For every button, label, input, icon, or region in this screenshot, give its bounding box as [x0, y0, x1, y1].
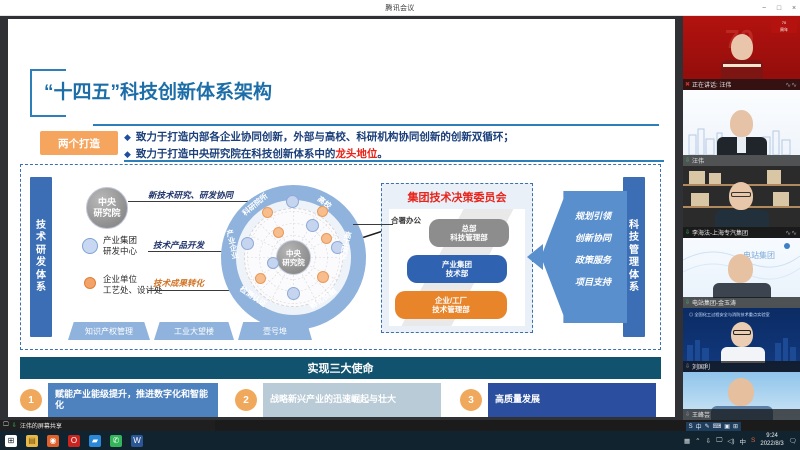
title-divider [93, 124, 659, 126]
ring-node-blue [241, 237, 254, 250]
flow-label-result-transfer: 技术成果转化 [153, 277, 204, 289]
decision-committee-title: 集团技术决策委员会 [381, 189, 533, 205]
book-item [709, 173, 721, 184]
page-title: “十四五”科技创新体系架构 [44, 77, 272, 104]
ime-icon[interactable]: 中 [740, 436, 747, 446]
mission-item-2: 2 战略新兴产业的迅速崛起与壮大 [235, 383, 441, 417]
connector-line-joint-office [353, 224, 393, 225]
video-name-bar-3: ⇩ 李海法-上海专汽集团 ∿∿ [683, 227, 800, 238]
mission-number-3: 3 [460, 389, 482, 411]
minimize-button[interactable]: − [760, 5, 768, 12]
legend-industry-label: 产业集团 研发中心 [103, 235, 137, 257]
video-name-bar-4: ⇩ 电站集团-金玉涛 [683, 297, 800, 308]
video-tile-3[interactable]: ⇩ 李海法-上海专汽集团 ∿∿ [683, 166, 800, 238]
windows-start-icon[interactable]: ⊞ [5, 435, 17, 447]
maximize-button[interactable]: □ [775, 5, 783, 12]
volume-icon[interactable]: ◁) [727, 437, 734, 445]
ring-network-diagram: 中央研究院 科研院所 高校 高工院学 孵化投融 [213, 179, 373, 337]
tencent-meeting-window: 腾讯会议 − □ × “十四五”科技创新体系架构 两个打造 ◆ 致力于打造内部各… [0, 0, 800, 450]
microphone-icon: ⇩ [12, 422, 17, 429]
window-controls: − □ × [760, 0, 798, 16]
meeting-stage: “十四五”科技创新体系架构 两个打造 ◆ 致力于打造内部各企业协同创新，外部与高… [0, 16, 683, 420]
arrow-text-group: 规划引领 创新协同 政策服务 项目支持 [564, 205, 622, 293]
microphone-muted-icon: ✖ [685, 81, 690, 88]
file-explorer-icon[interactable]: ▤ [26, 435, 38, 447]
arrow-item-1: 规划引领 [564, 205, 622, 227]
tab-pier-one[interactable]: 壹号埠 [238, 322, 312, 340]
ime-sogou-icon[interactable]: S [689, 424, 693, 430]
mission-item-3: 3 高质量发展 [460, 383, 656, 417]
ring-node-orange [317, 271, 329, 283]
ring-node-orange [273, 227, 284, 238]
ring-hub-central-institute: 中央研究院 [276, 240, 311, 275]
participant-name-5: 刘国利 [692, 362, 710, 371]
ime-more-icon[interactable]: ⊞ [733, 423, 738, 430]
ring-node-blue [267, 257, 279, 269]
speaking-waveform-icon: ∿∿ [785, 229, 797, 237]
bullet-list: ◆ 致力于打造内部各企业协同创新，外部与高校、科研机构协同创新的创新双循环； ◆… [124, 129, 664, 163]
avatar-head [728, 254, 753, 283]
microphone-icon: ⇩ [685, 363, 690, 370]
video-name-bar-6: ⇩ 王峰芸 [683, 409, 800, 420]
participant-name-3: 李海法-上海专汽集团 [692, 228, 748, 237]
window-titlebar: 腾讯会议 − □ × [0, 0, 800, 16]
bullet-highlight: 龙头地位 [335, 148, 377, 160]
notification-icon[interactable]: 🗨 [789, 437, 797, 445]
screen-icon: 🖵 [3, 422, 9, 429]
org-logo-icon: 70周年 [771, 19, 797, 33]
mission-number-2: 2 [235, 389, 257, 411]
flow-label-product-dev: 技术产品开发 [153, 239, 204, 251]
shared-slide: “十四五”科技创新体系架构 两个打造 ◆ 致力于打造内部各企业协同创新，外部与高… [8, 19, 675, 417]
avatar-body [721, 60, 763, 80]
mission-list: 1 赋能产业能级提升，推进数字化和智能化 2 战略新兴产业的迅速崛起与壮大 3 … [20, 383, 661, 417]
ring-node-orange [321, 233, 332, 244]
ime-chinese-mode[interactable]: 中 [696, 422, 702, 431]
video-name-bar-2: ⇩ 汪伟 [683, 155, 800, 166]
system-tray: S 中 ✎ ⌨ ▣ ⊞ ▦ ⌃ ⇩ 🖵 ◁) 中 S 9:24 2022/8/3… [684, 431, 797, 450]
microphone-icon[interactable]: ⇩ [706, 437, 711, 445]
mission-bar-title: 实现三大使命 [20, 357, 661, 379]
monitor-icon[interactable]: 🖵 [716, 437, 722, 445]
legend-enterprise-dot [84, 277, 96, 289]
pill-enterprise-factory: 企业/工厂技术管理部 [395, 291, 507, 319]
diamond-icon: ◆ [124, 129, 131, 146]
avatar-collar [723, 64, 761, 67]
windows-taskbar[interactable]: ⊞ ▤ ◉ O ▰ ✆ W S 中 ✎ ⌨ ▣ ⊞ ▦ ⌃ ⇩ 🖵 ◁) 中 S [0, 431, 800, 450]
taskbar-icon-group: ⊞ ▤ ◉ O ▰ ✆ W [0, 435, 143, 447]
book-item [691, 193, 709, 206]
video-name-bar-5: ⇩ 刘国利 [683, 361, 800, 372]
ime-toolbar[interactable]: S 中 ✎ ⌨ ▣ ⊞ [686, 422, 741, 431]
avatar-head [730, 110, 753, 137]
ime-keyboard-icon[interactable]: ⌨ [713, 423, 722, 430]
wechat-icon[interactable]: ✆ [110, 435, 122, 447]
microphone-icon: ⇩ [685, 229, 690, 236]
word-icon[interactable]: W [131, 435, 143, 447]
arrow-item-4: 项目支持 [564, 271, 622, 293]
ime-panel-icon[interactable]: ▣ [724, 423, 730, 430]
virtual-background-banner: ◎ 全国化工过程安全与消防技术重点实验室 [689, 312, 770, 318]
book-item [689, 171, 705, 184]
sogou-icon[interactable]: S [751, 437, 755, 444]
legend-industry-dot [82, 238, 98, 254]
avatar-body [715, 210, 769, 228]
pill-industry-group: 产业集团技术部 [407, 255, 507, 283]
ring-node-orange [262, 207, 273, 218]
tencent-meeting-icon[interactable]: ▰ [89, 435, 101, 447]
video-tile-6[interactable]: ⇩ 王峰芸 [683, 372, 800, 420]
mission-item-1: 1 赋能产业能级提升，推进数字化和智能化 [20, 383, 218, 417]
book-item [773, 192, 789, 206]
show-hidden-icons-icon[interactable]: ▦ [684, 437, 690, 445]
joint-office-label: 合署办公 [391, 215, 421, 226]
tray-chevron-icon[interactable]: ⌃ [695, 437, 700, 445]
book-item [767, 170, 781, 184]
avatar-head [728, 378, 754, 406]
arrow-item-2: 创新协同 [564, 227, 622, 249]
tab-ip-management[interactable]: 知识产权管理 [68, 322, 150, 340]
ring-node-orange [255, 273, 266, 284]
video-tile-1[interactable]: 70 70周年 ✖ 正在讲话: 汪伟 ∿∿ [683, 16, 800, 90]
legend-central-institute-circle: 中央研究院 [86, 187, 128, 229]
share-label: 汪伟的屏幕共享 [20, 421, 62, 430]
ring-node-blue [287, 287, 300, 300]
participant-name-6: 王峰芸 [692, 410, 710, 419]
avatar-shirt [737, 137, 746, 153]
taskbar-clock[interactable]: 9:24 2022/8/3 [760, 433, 783, 448]
screen-share-indicator[interactable]: 🖵 ⇩ 汪伟的屏幕共享 [0, 420, 215, 431]
clock-time: 9:24 [760, 433, 783, 441]
tab-industry-tower[interactable]: 工业大望楼 [154, 322, 234, 340]
ring-node-blue [286, 195, 299, 208]
two-create-tag: 两个打造 [40, 131, 118, 155]
video-participant-sidebar[interactable]: 70 70周年 ✖ 正在讲话: 汪伟 ∿∿ [683, 16, 800, 420]
avatar-body [713, 283, 771, 298]
decision-committee-box: 总部科技管理部 产业集团技术部 企业/工厂技术管理部 [389, 209, 525, 326]
glasses-icon [731, 192, 751, 197]
video-tile-4[interactable]: 电站集团 ⇩ 电站集团-金玉涛 [683, 238, 800, 308]
video-name-bar-1: ✖ 正在讲话: 汪伟 ∿∿ [683, 79, 800, 90]
firefox-icon[interactable]: ◉ [47, 435, 59, 447]
mission-text-3: 高质量发展 [488, 383, 656, 417]
participant-name-1: 正在讲话: 汪伟 [692, 80, 731, 89]
microphone-icon: ⇩ [685, 411, 690, 418]
clock-date: 2022/8/3 [760, 441, 783, 449]
video-tile-5[interactable]: ◎ 全国化工过程安全与消防技术重点实验室 ⇩ 刘国利 [683, 308, 800, 372]
bullet-text-1: 致力于打造内部各企业协同创新，外部与高校、科研机构协同创新的创新双循环； [136, 129, 514, 146]
arrow-item-3: 政策服务 [564, 249, 622, 271]
bullet-divider [124, 160, 664, 162]
bullet-row-1: ◆ 致力于打造内部各企业协同创新，外部与高校、科研机构协同创新的创新双循环； [124, 129, 664, 146]
avatar-head [731, 34, 753, 60]
opera-icon[interactable]: O [68, 435, 80, 447]
ime-pen-icon[interactable]: ✎ [705, 423, 710, 430]
mission-text-1: 赋能产业能级提升，推进数字化和智能化 [48, 383, 218, 417]
window-title: 腾讯会议 [385, 3, 414, 13]
participant-name-4: 电站集团-金玉涛 [692, 298, 736, 307]
microphone-icon: ⇩ [685, 157, 690, 164]
mission-text-2: 战略新兴产业的迅速崛起与壮大 [263, 383, 441, 417]
video-tile-2[interactable]: ⇩ 汪伟 [683, 90, 800, 166]
mission-number-1: 1 [20, 389, 42, 411]
participant-name-2: 汪伟 [692, 156, 704, 165]
left-band-rd-system: 技术研发体系 [30, 177, 52, 337]
glasses-icon [733, 330, 751, 335]
pill-headquarters: 总部科技管理部 [429, 219, 509, 247]
close-button[interactable]: × [790, 5, 798, 12]
ring-node-blue [306, 219, 319, 232]
bottom-tab-group: 知识产权管理 工业大望楼 壹号埠 [68, 322, 318, 340]
speaking-waveform-icon: ∿∿ [785, 81, 797, 89]
microphone-icon: ⇩ [685, 299, 690, 306]
